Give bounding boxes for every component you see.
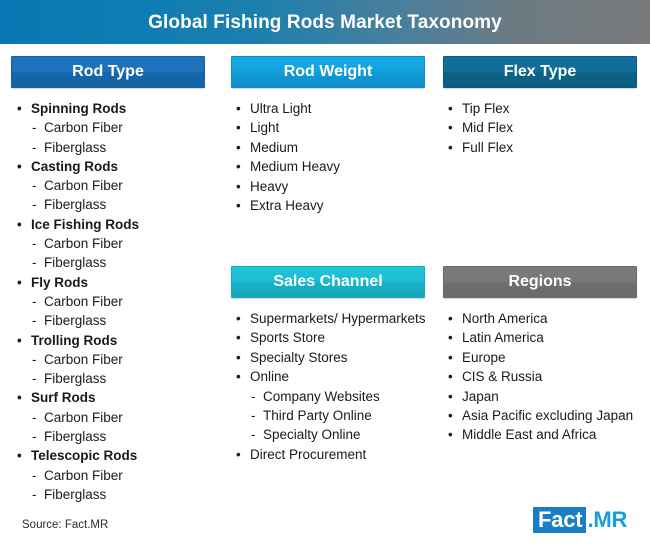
list-item: -Fiberglass — [14, 369, 214, 388]
list-item-label: Specialty Stores — [250, 348, 428, 367]
dash-marker-icon: - — [32, 118, 37, 137]
bullet-marker-icon: • — [448, 138, 453, 157]
dash-marker-icon: - — [32, 311, 37, 330]
list-item: •Sports Store — [233, 328, 428, 347]
list-item-label: Ultra Light — [250, 99, 433, 118]
list-item: -Fiberglass — [14, 311, 214, 330]
list-item: -Carbon Fiber — [14, 118, 214, 137]
list-item: -Carbon Fiber — [14, 408, 214, 427]
list-item-label: Carbon Fiber — [44, 234, 214, 253]
list-item-label: Third Party Online — [263, 406, 428, 425]
bullet-marker-icon: • — [236, 118, 241, 137]
list-item: •Spinning Rods — [14, 99, 214, 118]
list-item: •Medium Heavy — [233, 157, 433, 176]
bullet-marker-icon: • — [236, 309, 241, 328]
bullet-marker-icon: • — [448, 425, 453, 444]
bullet-marker-icon: • — [236, 367, 241, 386]
list-item: •Surf Rods — [14, 388, 214, 407]
list-item-label: Latin America — [462, 328, 650, 347]
list-item-label: Carbon Fiber — [44, 466, 214, 485]
dash-marker-icon: - — [32, 234, 37, 253]
title-bar: Global Fishing Rods Market Taxonomy — [0, 0, 650, 44]
list-item-label: Medium — [250, 138, 433, 157]
list-item-label: Sports Store — [250, 328, 428, 347]
list-item: •Middle East and Africa — [445, 425, 650, 444]
factmr-logo-primary: Fact — [533, 507, 586, 533]
bullet-marker-icon: • — [236, 99, 241, 118]
bullet-marker-icon: • — [17, 215, 22, 234]
list-rod-weight: •Ultra Light•Light•Medium•Medium Heavy•H… — [233, 99, 433, 215]
list-item-label: Supermarkets/ Hypermarkets — [250, 309, 428, 328]
list-item-label: Spinning Rods — [31, 99, 214, 118]
list-item-label: Telescopic Rods — [31, 446, 214, 465]
list-item: •Ultra Light — [233, 99, 433, 118]
section-header-rod-type-label: Rod Type — [72, 64, 144, 80]
list-item-label: Extra Heavy — [250, 196, 433, 215]
list-item: •Medium — [233, 138, 433, 157]
list-item-label: Trolling Rods — [31, 331, 214, 350]
list-item-label: Carbon Fiber — [44, 176, 214, 195]
bullet-marker-icon: • — [236, 445, 241, 464]
list-item-label: Direct Procurement — [250, 445, 428, 464]
list-item-label: North America — [462, 309, 650, 328]
section-header-regions: Regions — [443, 266, 637, 298]
factmr-logo-secondary: .MR — [586, 507, 627, 533]
list-item-label: Company Websites — [263, 387, 428, 406]
list-item-label: Carbon Fiber — [44, 408, 214, 427]
list-item-label: Fiberglass — [44, 369, 214, 388]
list-item-label: Fiberglass — [44, 195, 214, 214]
list-item-label: Carbon Fiber — [44, 118, 214, 137]
list-item: -Fiberglass — [14, 195, 214, 214]
list-item: •Europe — [445, 348, 650, 367]
list-item: -Fiberglass — [14, 427, 214, 446]
factmr-logo: Fact.MR — [533, 506, 627, 534]
bullet-marker-icon: • — [17, 446, 22, 465]
list-item: •Mid Flex — [445, 118, 645, 137]
list-item: -Company Websites — [233, 387, 428, 406]
list-item-label: Heavy — [250, 177, 433, 196]
dash-marker-icon: - — [32, 485, 37, 504]
list-item: •Tip Flex — [445, 99, 645, 118]
list-item-label: Mid Flex — [462, 118, 645, 137]
bullet-marker-icon: • — [17, 273, 22, 292]
list-item-label: Fiberglass — [44, 427, 214, 446]
dash-marker-icon: - — [32, 369, 37, 388]
section-header-flex-type: Flex Type — [443, 56, 637, 88]
bullet-marker-icon: • — [448, 367, 453, 386]
list-item-label: Carbon Fiber — [44, 350, 214, 369]
bullet-marker-icon: • — [448, 328, 453, 347]
list-sales-channel: •Supermarkets/ Hypermarkets•Sports Store… — [233, 309, 428, 464]
list-item: •Latin America — [445, 328, 650, 347]
bullet-marker-icon: • — [17, 99, 22, 118]
list-item-label: Specialty Online — [263, 425, 428, 444]
dash-marker-icon: - — [32, 138, 37, 157]
bullet-marker-icon: • — [236, 328, 241, 347]
list-item: -Specialty Online — [233, 425, 428, 444]
list-item: •Asia Pacific excluding Japan — [445, 406, 650, 425]
list-item: •Telescopic Rods — [14, 446, 214, 465]
list-item-label: Full Flex — [462, 138, 645, 157]
dash-marker-icon: - — [32, 253, 37, 272]
list-item: •Fly Rods — [14, 273, 214, 292]
bullet-marker-icon: • — [448, 309, 453, 328]
section-header-sales-channel-label: Sales Channel — [273, 274, 382, 290]
list-item-label: CIS & Russia — [462, 367, 650, 386]
list-item: -Fiberglass — [14, 253, 214, 272]
infographic-page: Global Fishing Rods Market Taxonomy Rod … — [0, 0, 650, 547]
dash-marker-icon: - — [251, 387, 256, 406]
list-item-label: Surf Rods — [31, 388, 214, 407]
list-item: -Carbon Fiber — [14, 176, 214, 195]
list-item-label: Casting Rods — [31, 157, 214, 176]
list-item-label: Europe — [462, 348, 650, 367]
list-item-label: Fiberglass — [44, 311, 214, 330]
list-item: -Fiberglass — [14, 138, 214, 157]
list-item-label: Medium Heavy — [250, 157, 433, 176]
list-item: •Full Flex — [445, 138, 645, 157]
list-rod-type: •Spinning Rods-Carbon Fiber-Fiberglass•C… — [14, 99, 214, 504]
page-title: Global Fishing Rods Market Taxonomy — [148, 13, 502, 32]
dash-marker-icon: - — [32, 350, 37, 369]
list-regions: •North America•Latin America•Europe•CIS … — [445, 309, 650, 445]
bullet-marker-icon: • — [448, 118, 453, 137]
bullet-marker-icon: • — [17, 157, 22, 176]
list-item: -Carbon Fiber — [14, 466, 214, 485]
dash-marker-icon: - — [251, 425, 256, 444]
list-item-label: Fiberglass — [44, 138, 214, 157]
bullet-marker-icon: • — [448, 406, 453, 425]
list-item-label: Middle East and Africa — [462, 425, 650, 444]
bullet-marker-icon: • — [236, 348, 241, 367]
list-item: •CIS & Russia — [445, 367, 650, 386]
bullet-marker-icon: • — [236, 177, 241, 196]
list-item-label: Fly Rods — [31, 273, 214, 292]
list-item-label: Online — [250, 367, 428, 386]
bullet-marker-icon: • — [236, 196, 241, 215]
section-header-rod-weight: Rod Weight — [231, 56, 425, 88]
dash-marker-icon: - — [32, 466, 37, 485]
list-item: •Casting Rods — [14, 157, 214, 176]
section-header-rod-weight-label: Rod Weight — [284, 64, 373, 80]
list-item: •Light — [233, 118, 433, 137]
section-header-rod-type: Rod Type — [11, 56, 205, 88]
section-header-sales-channel: Sales Channel — [231, 266, 425, 298]
list-item: •Japan — [445, 387, 650, 406]
bullet-marker-icon: • — [17, 388, 22, 407]
dash-marker-icon: - — [32, 195, 37, 214]
list-flex-type: •Tip Flex•Mid Flex•Full Flex — [445, 99, 645, 157]
list-item: •Trolling Rods — [14, 331, 214, 350]
list-item: •North America — [445, 309, 650, 328]
list-item-label: Tip Flex — [462, 99, 645, 118]
bullet-marker-icon: • — [17, 331, 22, 350]
list-item-label: Light — [250, 118, 433, 137]
list-item-label: Ice Fishing Rods — [31, 215, 214, 234]
list-item: -Carbon Fiber — [14, 292, 214, 311]
list-item: -Carbon Fiber — [14, 350, 214, 369]
section-header-regions-label: Regions — [508, 274, 571, 290]
list-item-label: Fiberglass — [44, 485, 214, 504]
dash-marker-icon: - — [32, 292, 37, 311]
section-header-flex-type-label: Flex Type — [504, 64, 577, 80]
bullet-marker-icon: • — [448, 99, 453, 118]
list-item-label: Asia Pacific excluding Japan — [462, 406, 650, 425]
list-item: -Third Party Online — [233, 406, 428, 425]
list-item: •Extra Heavy — [233, 196, 433, 215]
list-item: •Online — [233, 367, 428, 386]
list-item: •Specialty Stores — [233, 348, 428, 367]
dash-marker-icon: - — [32, 408, 37, 427]
dash-marker-icon: - — [251, 406, 256, 425]
list-item-label: Fiberglass — [44, 253, 214, 272]
list-item-label: Carbon Fiber — [44, 292, 214, 311]
bullet-marker-icon: • — [448, 387, 453, 406]
list-item: •Ice Fishing Rods — [14, 215, 214, 234]
bullet-marker-icon: • — [236, 138, 241, 157]
list-item: -Fiberglass — [14, 485, 214, 504]
dash-marker-icon: - — [32, 176, 37, 195]
list-item: -Carbon Fiber — [14, 234, 214, 253]
dash-marker-icon: - — [32, 427, 37, 446]
list-item: •Supermarkets/ Hypermarkets — [233, 309, 428, 328]
bullet-marker-icon: • — [448, 348, 453, 367]
list-item-label: Japan — [462, 387, 650, 406]
bullet-marker-icon: • — [236, 157, 241, 176]
source-note: Source: Fact.MR — [22, 518, 108, 532]
list-item: •Heavy — [233, 177, 433, 196]
list-item: •Direct Procurement — [233, 445, 428, 464]
